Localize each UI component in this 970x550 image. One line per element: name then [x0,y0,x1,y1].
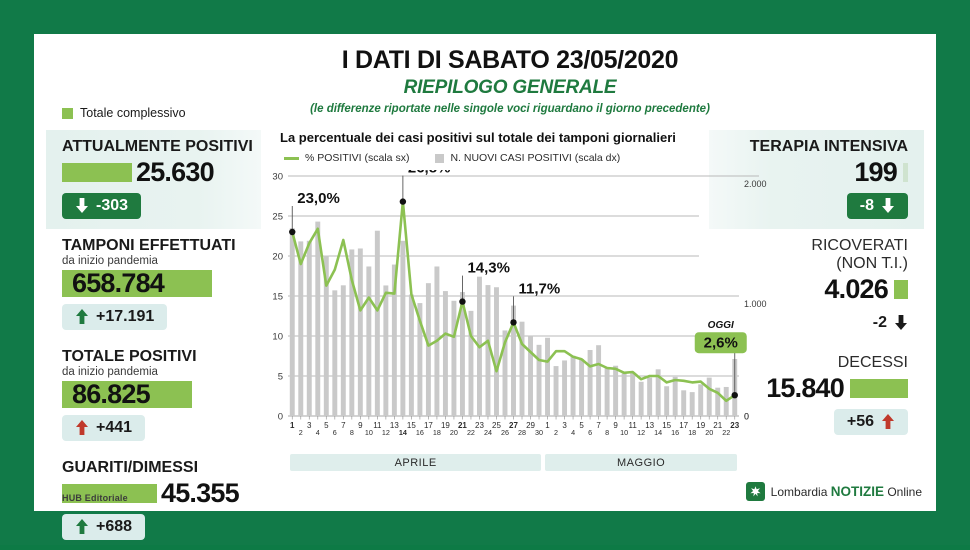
stat-value: 86.825 [62,378,154,410]
y2-zero-label: 0 [744,412,749,422]
chart-bar [332,290,337,416]
arrow-down-icon [894,315,908,330]
stat-delta-value: +441 [96,419,132,437]
x-axis-tick-label: 16 [671,428,679,437]
stat-value: 25.630 [136,159,214,186]
x-axis-tick-label: 18 [688,428,696,437]
stat-value: 658.784 [62,267,168,299]
legend-swatch-icon [62,108,73,119]
today-badge-label: 2,6% [704,335,738,352]
x-axis-tick-label: 30 [535,428,543,437]
chart-bar [358,248,363,416]
stat-sublabel: da inizio pandemia [62,255,245,267]
chart-bar [528,336,533,416]
chart-bar [622,374,627,416]
x-axis-tick-label: 11 [628,421,637,430]
chart-legend-label: N. NUOVI CASI POSITIVI (scala dx) [450,152,620,164]
page-subtitle: RIEPILOGO GENERALE [234,77,786,99]
chart-bar [673,377,678,416]
month-band: APRILE [290,454,541,471]
stat-delta-value: +17.191 [96,308,154,326]
annotation-dot [459,298,465,304]
stat-value-bar [903,163,908,182]
arrow-up-icon [881,414,895,429]
arrow-down-icon [75,198,89,213]
total-legend: Totale complessivo [62,106,186,120]
x-axis-tick-label: 14 [654,428,662,437]
annotation-label: 26,8% [408,170,451,177]
chart-bar [639,382,644,416]
y2-axis-tick-label: 2.000 [744,179,767,189]
x-axis-tick-label: 2 [299,428,303,437]
stat-label: TAMPONI EFFETTUATI [62,237,245,255]
x-axis-tick-label: 16 [416,428,424,437]
chart-bar [451,301,456,416]
chart-bar [647,378,652,416]
chart-bar [290,228,295,416]
chart-bar [562,360,567,416]
month-band-label: APRILE [395,457,437,469]
chart-bar [298,241,303,416]
stat-value-row: 86.825 [62,381,245,408]
logo-text: Lombardia NOTIZIE Online [771,484,922,499]
chart-bar [315,222,320,416]
chart-bar [596,345,601,416]
chart-bar [681,390,686,416]
chart-svg: 05101520253001.0002.00012345678910111213… [262,170,767,438]
chart-bar [443,291,448,416]
stat-value-row: 658.784 [62,270,245,297]
y-axis-tick-label: 20 [272,252,283,263]
chart-title: La percentuale dei casi positivi sul tot… [262,130,767,145]
stat-value-row: 25.630 [62,159,245,186]
annotation-label: 14,3% [467,260,510,277]
x-axis-tick-label: 10 [620,428,628,437]
arrow-up-icon [75,519,89,534]
x-axis-tick-label: 3 [307,421,312,430]
y-axis-tick-label: 10 [272,332,283,343]
chart-bar [307,241,312,416]
stat-delta-value: -8 [860,197,874,215]
chart-bar [375,231,380,416]
x-axis-tick-label: 2 [554,428,558,437]
stat-card-totale-positivi: TOTALE POSITIVIda inizio pandemia86.825+… [46,340,261,451]
month-band: MAGGIO [545,454,737,471]
left-stats-panel: ATTUALMENTE POSITIVI25.630-303TAMPONI EF… [46,130,261,550]
logo-part-2: NOTIZIE [831,484,884,499]
chart-bar [579,359,584,416]
credit-label: HUB Editoriale [62,493,128,503]
stat-label: ATTUALMENTE POSITIVI [62,138,245,156]
x-axis-tick-label: 5 [579,421,584,430]
stat-delta-value: -303 [96,197,128,215]
month-band-row: APRILEMAGGIO [288,454,739,471]
annotation-dot [510,319,516,325]
stat-value-bar [894,280,908,299]
stat-value-bar [850,379,908,398]
chart-bar [494,287,499,416]
x-axis-tick-label: 28 [518,428,526,437]
chart-bar [400,241,405,416]
stat-delta-badge: -303 [62,193,141,219]
chart-bar [613,366,618,416]
chart-bar [664,386,669,416]
x-axis-tick-label: 10 [365,428,373,437]
x-axis-tick-label: 4 [316,428,320,437]
x-axis-tick-label: 1 [290,421,295,430]
x-axis-tick-label: 18 [433,428,441,437]
chart-legend-label: % POSITIVI (scala sx) [305,152,409,164]
chart-legend: % POSITIVI (scala sx)N. NUOVI CASI POSIT… [262,152,767,164]
annotation-label: 11,7% [519,280,561,297]
chart-bar [537,345,542,416]
chart-bar [366,266,371,416]
stat-delta-badge: -8 [847,193,908,219]
x-axis-tick-label: 11 [373,421,382,430]
y2-axis-tick-label: 1.000 [744,299,767,309]
x-axis-tick-label: 7 [596,421,601,430]
stat-card-attualmente-positivi: ATTUALMENTE POSITIVI25.630-303 [46,130,261,229]
x-axis-tick-label: 20 [450,428,458,437]
logo-part-1: Lombardia [771,485,828,499]
total-legend-label: Totale complessivo [80,106,186,120]
stat-delta-value: +688 [96,518,132,536]
stat-value: 15.840 [766,375,844,402]
chart-bar [409,295,414,416]
y-axis-tick-label: 15 [272,292,283,303]
chart-bar [571,356,576,416]
stat-delta-row: +688 [62,507,245,540]
chart-bar [383,285,388,416]
x-axis-tick-label: 26 [501,428,509,437]
header: I DATI DI SABATO 23/05/2020 RIEPILOGO GE… [234,46,786,115]
x-axis-tick-label: 12 [637,428,645,437]
x-axis-tick-label: 14 [399,428,407,437]
chart-bar [630,372,635,416]
x-axis-tick-label: 6 [333,428,337,437]
chart-bar [554,366,559,416]
lombardia-notizie-logo: Lombardia NOTIZIE Online [746,482,922,501]
x-axis-tick-label: 3 [562,421,567,430]
infographic-card: Totale complessivo I DATI DI SABATO 23/0… [34,34,936,511]
chart-bar [341,285,346,416]
x-axis-tick-label: 20 [705,428,713,437]
y-axis-tick-label: 5 [278,372,283,383]
stat-delta-badge: +17.191 [62,304,167,330]
x-axis-tick-label: 9 [358,421,363,430]
annotation-dot [400,198,406,204]
y-axis-tick-label: 0 [278,412,283,423]
annotation-label: 23,0% [297,190,340,207]
chart-container: La percentuale dei casi positivi sul tot… [262,130,767,510]
logo-part-3: Online [887,485,922,499]
stat-label: GUARITI/DIMESSI [62,459,245,477]
x-axis-tick-label: 4 [571,428,575,437]
green-frame: Totale complessivo I DATI DI SABATO 23/0… [0,0,970,545]
chart-bar [605,368,610,416]
stat-delta-badge: +441 [62,415,145,441]
annotation-dot [289,229,295,235]
month-band-label: MAGGIO [617,457,665,469]
stat-value-bar-overlay: 86.825 [62,381,154,408]
arrow-up-icon [75,309,89,324]
x-axis-tick-label: 6 [588,428,592,437]
x-axis-tick-label: 12 [382,428,390,437]
stat-delta-badge: +56 [834,409,908,435]
stat-delta-badge: -2 [873,310,908,336]
stat-value: 199 [854,159,897,186]
chart-legend-item: % POSITIVI (scala sx) [284,152,409,164]
stat-delta-row: -303 [62,186,245,219]
today-badge-title: OGGI [708,320,734,331]
stat-value: 4.026 [824,276,888,303]
x-axis-tick-label: 9 [613,421,618,430]
chart-bar [545,338,550,416]
stat-value-bar-overlay: 658.784 [62,270,168,297]
chart-bar [520,322,525,416]
stat-delta-row: +17.191 [62,297,245,330]
x-axis-tick-label: 5 [324,421,329,430]
arrow-up-icon [75,420,89,435]
stat-label: TOTALE POSITIVI [62,348,245,366]
y-axis-tick-label: 30 [272,172,283,183]
stat-delta-row: +441 [62,408,245,441]
x-axis-tick-label: 22 [467,428,475,437]
chart-bar [698,384,703,416]
x-axis-tick-label: 22 [722,428,730,437]
chart-bar [588,350,593,416]
stat-value: 45.355 [161,480,239,507]
stat-card-tamponi-effettuati: TAMPONI EFFETTUATIda inizio pandemia658.… [46,229,261,340]
page-note: (le differenze riportate nelle singole v… [234,103,786,115]
chart-plot-area: 05101520253001.0002.00012345678910111213… [262,170,767,438]
x-axis-tick-label: 7 [341,421,346,430]
x-axis-tick-label: 1 [545,421,550,430]
stat-delta-value: -2 [873,314,887,332]
chart-bar [690,392,695,416]
annotation-dot [732,392,738,398]
x-axis-tick-label: 23 [730,421,739,430]
arrow-down-icon [881,198,895,213]
stat-sublabel: da inizio pandemia [62,366,245,378]
chart-bar [426,283,431,416]
stat-value-bar [62,163,132,182]
chart-legend-item: N. NUOVI CASI POSITIVI (scala dx) [435,152,620,164]
chart-bar [707,378,712,416]
x-axis-tick-label: 8 [605,428,609,437]
y-axis-tick-label: 25 [272,212,283,223]
stat-delta-badge: +688 [62,514,145,540]
legend-box-icon [435,154,444,163]
stat-delta-value: +56 [847,413,874,431]
page-title: I DATI DI SABATO 23/05/2020 [234,46,786,75]
x-axis-tick-label: 24 [484,428,492,437]
legend-line-icon [284,157,299,160]
x-axis-tick-label: 8 [350,428,354,437]
